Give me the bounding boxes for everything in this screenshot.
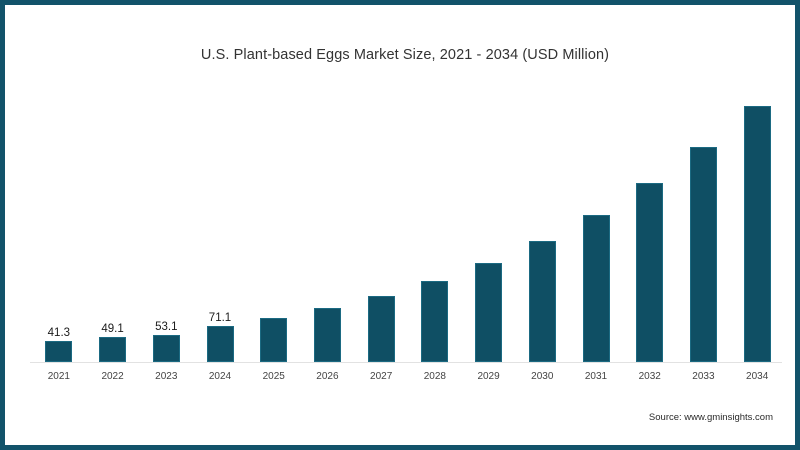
- chart-title: U.S. Plant-based Eggs Market Size, 2021 …: [5, 47, 800, 63]
- bar-2026: [314, 308, 341, 362]
- bar-2032: [636, 183, 663, 362]
- chart-figure: U.S. Plant-based Eggs Market Size, 2021 …: [0, 0, 800, 450]
- bar-value-label-2021: 41.3: [48, 327, 70, 339]
- x-axis-line: [30, 362, 782, 363]
- x-axis-tick-labels: 2021202220232024202520262027202820292030…: [30, 371, 782, 387]
- bar-2021: 41.3: [45, 341, 72, 362]
- x-tick-2031: 2031: [574, 371, 618, 382]
- x-tick-2027: 2027: [359, 371, 403, 382]
- x-tick-2023: 2023: [144, 371, 188, 382]
- bar-2030: [529, 241, 556, 362]
- bar-2024: 71.1: [207, 326, 234, 362]
- bar-2029: [475, 263, 502, 362]
- bar-value-label-2024: 71.1: [209, 312, 231, 324]
- bar-2028: [421, 281, 448, 362]
- x-tick-2033: 2033: [681, 371, 725, 382]
- plot-area: 41.349.153.171.1: [30, 85, 782, 363]
- x-tick-2030: 2030: [520, 371, 564, 382]
- bar-2027: [368, 296, 395, 362]
- x-tick-2022: 2022: [91, 371, 135, 382]
- x-tick-2029: 2029: [467, 371, 511, 382]
- x-tick-2025: 2025: [252, 371, 296, 382]
- bar-value-label-2022: 49.1: [101, 323, 123, 335]
- bar-2033: [690, 147, 717, 362]
- x-tick-2021: 2021: [37, 371, 81, 382]
- bar-2025: [260, 318, 287, 362]
- bar-2034: [744, 106, 771, 362]
- x-tick-2032: 2032: [628, 371, 672, 382]
- x-tick-2028: 2028: [413, 371, 457, 382]
- bar-2023: 53.1: [153, 335, 180, 362]
- bar-value-label-2023: 53.1: [155, 321, 177, 333]
- bar-2022: 49.1: [99, 337, 126, 362]
- bar-2031: [583, 215, 610, 362]
- source-attribution: Source: www.gminsights.com: [649, 412, 773, 423]
- x-tick-2024: 2024: [198, 371, 242, 382]
- x-tick-2034: 2034: [735, 371, 779, 382]
- x-tick-2026: 2026: [305, 371, 349, 382]
